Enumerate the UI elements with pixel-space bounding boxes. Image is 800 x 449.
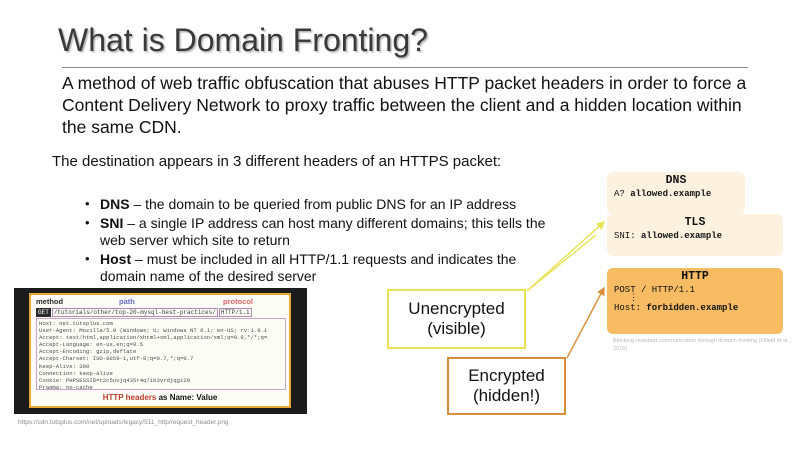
header-line: Cookie: PHPSESSID=r2c5uvjq435r4q7ib3vrdj… (39, 377, 283, 384)
bullet-term: Host (100, 251, 131, 267)
slide-canvas: What is Domain Fronting? A method of web… (0, 0, 800, 449)
sub-paragraph: The destination appears in 3 different h… (52, 152, 562, 171)
request-path: /tutorials/other/top-20-mysql-best-pract… (52, 308, 218, 317)
header-line: User-Agent: Mozilla/5.0 (Windows; U; Win… (39, 327, 283, 334)
header-line: Connection: keep-alive (39, 370, 283, 377)
header-line: Accept-Language: en-us,en;q=0.5 (39, 341, 283, 348)
list-item: DNS – the domain to be queried from publ… (82, 196, 562, 214)
dns-query-domain: allowed.example (630, 189, 711, 199)
figure-caption: Blocking-resistant communication through… (613, 338, 793, 353)
header-line: Accept-Charset: ISO-8859-1,utf-8;q=0.7,*… (39, 355, 283, 362)
header-line: Host: net.tutsplus.com (39, 320, 283, 327)
request-screenshot-frame: method path protocol GET/tutorials/other… (14, 288, 307, 414)
list-item: SNI – a single IP address can host many … (82, 215, 562, 250)
request-screenshot-image: method path protocol GET/tutorials/other… (29, 293, 291, 408)
callout-encrypted-line2: (hidden!) (473, 386, 540, 406)
callout-encrypted-line1: Encrypted (468, 366, 545, 386)
request-line: GET/tutorials/other/top-20-mysql-best-pr… (36, 308, 286, 317)
packet-box-tls-title: TLS (607, 216, 783, 229)
packet-box-tls-line: SNI: allowed.example (614, 231, 783, 241)
bullet-term: DNS (100, 196, 130, 212)
packet-box-dns-line: A? allowed.example (614, 189, 745, 199)
callout-encrypted: Encrypted (hidden!) (447, 357, 566, 415)
headers-bullet-list: DNS – the domain to be queried from publ… (82, 196, 562, 287)
sni-prefix: SNI: (614, 231, 641, 241)
header-line: Keep-Alive: 300 (39, 363, 283, 370)
label-method: method (36, 297, 63, 306)
packet-box-dns: DNS A? allowed.example (607, 172, 745, 214)
packet-box-tls: TLS SNI: allowed.example (607, 214, 783, 256)
annotation-labels: method path protocol (31, 297, 289, 308)
header-line: Pragma: no-cache (39, 384, 283, 390)
request-protocol: HTTP/1.1 (219, 308, 252, 317)
request-method: GET (36, 308, 51, 317)
callout-unencrypted: Unencrypted (visible) (387, 289, 526, 349)
host-prefix: Host: (614, 303, 646, 313)
header-lines-box: Host: net.tutsplus.com User-Agent: Mozil… (36, 318, 286, 390)
arrow-encrypted (567, 288, 604, 358)
page-title: What is Domain Fronting? (58, 22, 428, 59)
ellipsis-glyph: ⋮ (629, 295, 783, 301)
bullet-text: – must be included in all HTTP/1.1 reque… (100, 251, 516, 285)
title-divider (62, 67, 748, 68)
caption-prefix: HTTP headers (103, 393, 157, 402)
intro-paragraph: A method of web traffic obfuscation that… (62, 72, 752, 138)
packet-box-http: HTTP POST / HTTP/1.1 ⋮ Host: forbidden.e… (607, 268, 783, 334)
screenshot-caption: HTTP headers as Name: Value (31, 393, 289, 402)
callout-unencrypted-line1: Unencrypted (408, 299, 504, 319)
host-domain: forbidden.example (646, 303, 738, 313)
http-request-line: POST / HTTP/1.1 (614, 285, 783, 295)
callout-unencrypted-line2: (visible) (427, 319, 486, 339)
label-path: path (119, 297, 135, 306)
header-line: Accept: text/html,application/xhtml+xml,… (39, 334, 283, 341)
caption-rest: as Name: Value (156, 393, 217, 402)
sni-domain: allowed.example (641, 231, 722, 241)
source-url: https://cdn.tutsplus.com/net/uploads/leg… (18, 419, 229, 426)
bullet-text: – the domain to be queried from public D… (130, 196, 517, 212)
packet-box-http-title: HTTP (607, 270, 783, 283)
bullet-term: SNI (100, 215, 123, 231)
bullet-text: – a single IP address can host many diff… (100, 215, 545, 249)
packet-box-dns-title: DNS (607, 174, 745, 187)
list-item: Host – must be included in all HTTP/1.1 … (82, 251, 562, 286)
label-protocol: protocol (223, 297, 253, 306)
header-line: Accept-Encoding: gzip,deflate (39, 348, 283, 355)
dns-query-prefix: A? (614, 189, 630, 199)
http-host-line: Host: forbidden.example (614, 303, 783, 313)
